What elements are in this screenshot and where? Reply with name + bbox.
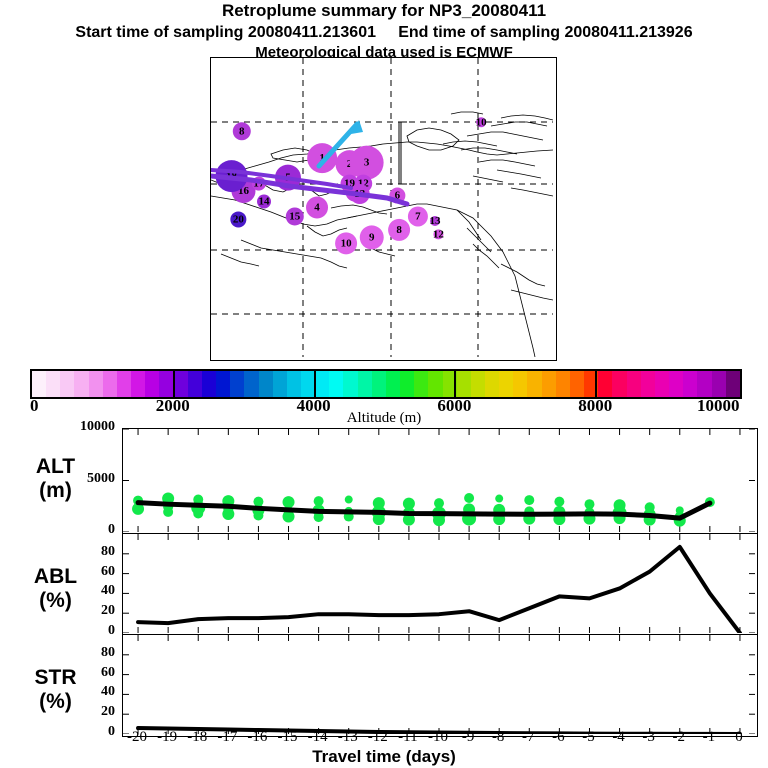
colorbar-swatch [372,371,386,397]
ytick-label: 10000 [55,419,115,435]
colorbar-swatch [188,371,202,397]
xtick-label: -3 [632,729,666,746]
xtick-label: -14 [301,729,335,746]
alt-point [345,496,353,504]
str-plot-svg [123,635,755,734]
xtick-label: -2 [662,729,696,746]
abl-line [138,547,740,633]
xtick-label: -18 [180,729,214,746]
colorbar-swatch [697,371,711,397]
xtick-label: -12 [361,729,395,746]
colorbar-swatch [145,371,159,397]
xtick-label: -7 [511,729,545,746]
colorbar-swatch [570,371,584,397]
colorbar-swatch [627,371,641,397]
colorbar-swatch [414,371,428,397]
plume-marker-label: 8 [396,224,402,236]
colorbar-swatch [89,371,103,397]
ytick-label: 80 [55,544,115,560]
colorbar-swatch [556,371,570,397]
colorbar-swatch [273,371,287,397]
alt-point [222,508,234,520]
colorbar-swatch [726,371,740,397]
plume-marker-label: 15 [289,210,301,222]
colorbar-swatch [457,371,471,397]
xtick-label: -17 [210,729,244,746]
plume-markers[interactable]: 12345678910111213141516171819208101312 [216,116,488,254]
colorbar-swatch [683,371,697,397]
ytick-label: 60 [55,564,115,580]
colorbar-swatch [60,371,74,397]
alt-point [524,495,534,505]
colorbar-swatch [32,371,46,397]
colorbar-swatch [202,371,216,397]
xtick-label: -15 [271,729,305,746]
colorbar-swatch [485,371,499,397]
map-svg: 12345678910111213141516171819208101312 [211,58,553,357]
colorbar-swatch [174,371,188,397]
colorbar-swatch [400,371,414,397]
ytick-label: 0 [55,522,115,538]
colorbar-swatch [542,371,556,397]
colorbar-swatch [230,371,244,397]
colorbar-swatch [527,371,541,397]
xtick-label: -13 [331,729,365,746]
colorbar-swatch [471,371,485,397]
alt-point [495,495,503,503]
colorbar-swatch [216,371,230,397]
ytick-label: 40 [55,684,115,700]
alt-point [163,507,173,517]
xtick-label: -4 [602,729,636,746]
colorbar-swatch [74,371,88,397]
xtick-label: 0 [722,729,756,746]
plume-marker-label: 7 [415,210,421,222]
colorbar-swatch [117,371,131,397]
xtick-label: -11 [391,729,425,746]
plume-marker-label: 3 [364,157,370,169]
plume-marker-label: 8 [239,125,245,137]
retroplume-map[interactable]: 12345678910111213141516171819208101312 [210,57,557,361]
colorbar-swatch [669,371,683,397]
colorbar-swatch [244,371,258,397]
xtick-label: -6 [541,729,575,746]
plume-marker-label: 10 [341,237,353,249]
sampling-time-line: Start time of sampling 20080411.213601 E… [0,22,768,43]
colorbar-swatch [513,371,527,397]
colorbar-swatch [655,371,669,397]
colorbar-separator [173,371,175,397]
colorbar-swatch [712,371,726,397]
alt-point [253,511,263,521]
colorbar-swatch [428,371,442,397]
colorbar-swatch [641,371,655,397]
alt-point [193,508,203,518]
colorbar-swatch [598,371,612,397]
ytick-label: 80 [55,645,115,661]
xaxis-tick-labels: -20-19-18-17-16-15-14-13-12-11-10-9-8-7-… [0,729,768,747]
colorbar-swatch [315,371,329,397]
ytick-label: 60 [55,665,115,681]
ytick-label: 0 [55,623,115,639]
xaxis-title: Travel time (days) [0,747,768,767]
alt-point [464,493,474,503]
page-title: Retroplume summary for NP3_20080411 [0,0,768,22]
xtick-label: -16 [240,729,274,746]
plume-marker-label: 4 [314,202,320,214]
colorbar-swatch [499,371,513,397]
alt-scatter-points [132,493,715,527]
colorbar-swatch [343,371,357,397]
ytick-label: 20 [55,603,115,619]
xtick-label: -1 [692,729,726,746]
colorbar-title: Altitude (m) [0,410,768,427]
xtick-label: -20 [120,729,154,746]
altitude-colorbar[interactable] [30,369,742,399]
ytick-label: 40 [55,583,115,599]
alt-plot-svg [123,429,755,532]
xtick-label: -5 [571,729,605,746]
colorbar-separator [314,371,316,397]
alt-point [554,497,564,507]
colorbar-swatch [46,371,60,397]
ytick-label: 5000 [55,471,115,487]
colorbar-swatch [103,371,117,397]
colorbar-swatch [131,371,145,397]
alt-plot[interactable] [122,428,758,535]
plume-marker-label: 14 [259,196,271,208]
xtick-label: -8 [481,729,515,746]
colorbar-swatch [159,371,173,397]
xtick-label: -9 [451,729,485,746]
ytick-label: 20 [55,704,115,720]
plume-marker-label: 13 [430,215,442,227]
colorbar-swatch [329,371,343,397]
str-plot[interactable] [122,634,758,737]
release-box [399,122,407,184]
colorbar-swatch [287,371,301,397]
colorbar-swatch [386,371,400,397]
axis-ticks [123,635,755,734]
colorbar-swatch [259,371,273,397]
abl-plot-svg [123,534,755,633]
colorbar-separator [454,371,456,397]
title-block: Retroplume summary for NP3_20080411 Star… [0,0,768,63]
plume-marker-label: 12 [433,228,445,240]
plume-marker-label: 20 [233,213,245,225]
colorbar-swatch [612,371,626,397]
plume-marker-label: 10 [476,116,488,128]
colorbar-separator [595,371,597,397]
colorbar-swatch [358,371,372,397]
abl-plot[interactable] [122,533,758,636]
plume-marker-label: 9 [369,231,375,243]
xtick-label: -19 [150,729,184,746]
xtick-label: -10 [421,729,455,746]
